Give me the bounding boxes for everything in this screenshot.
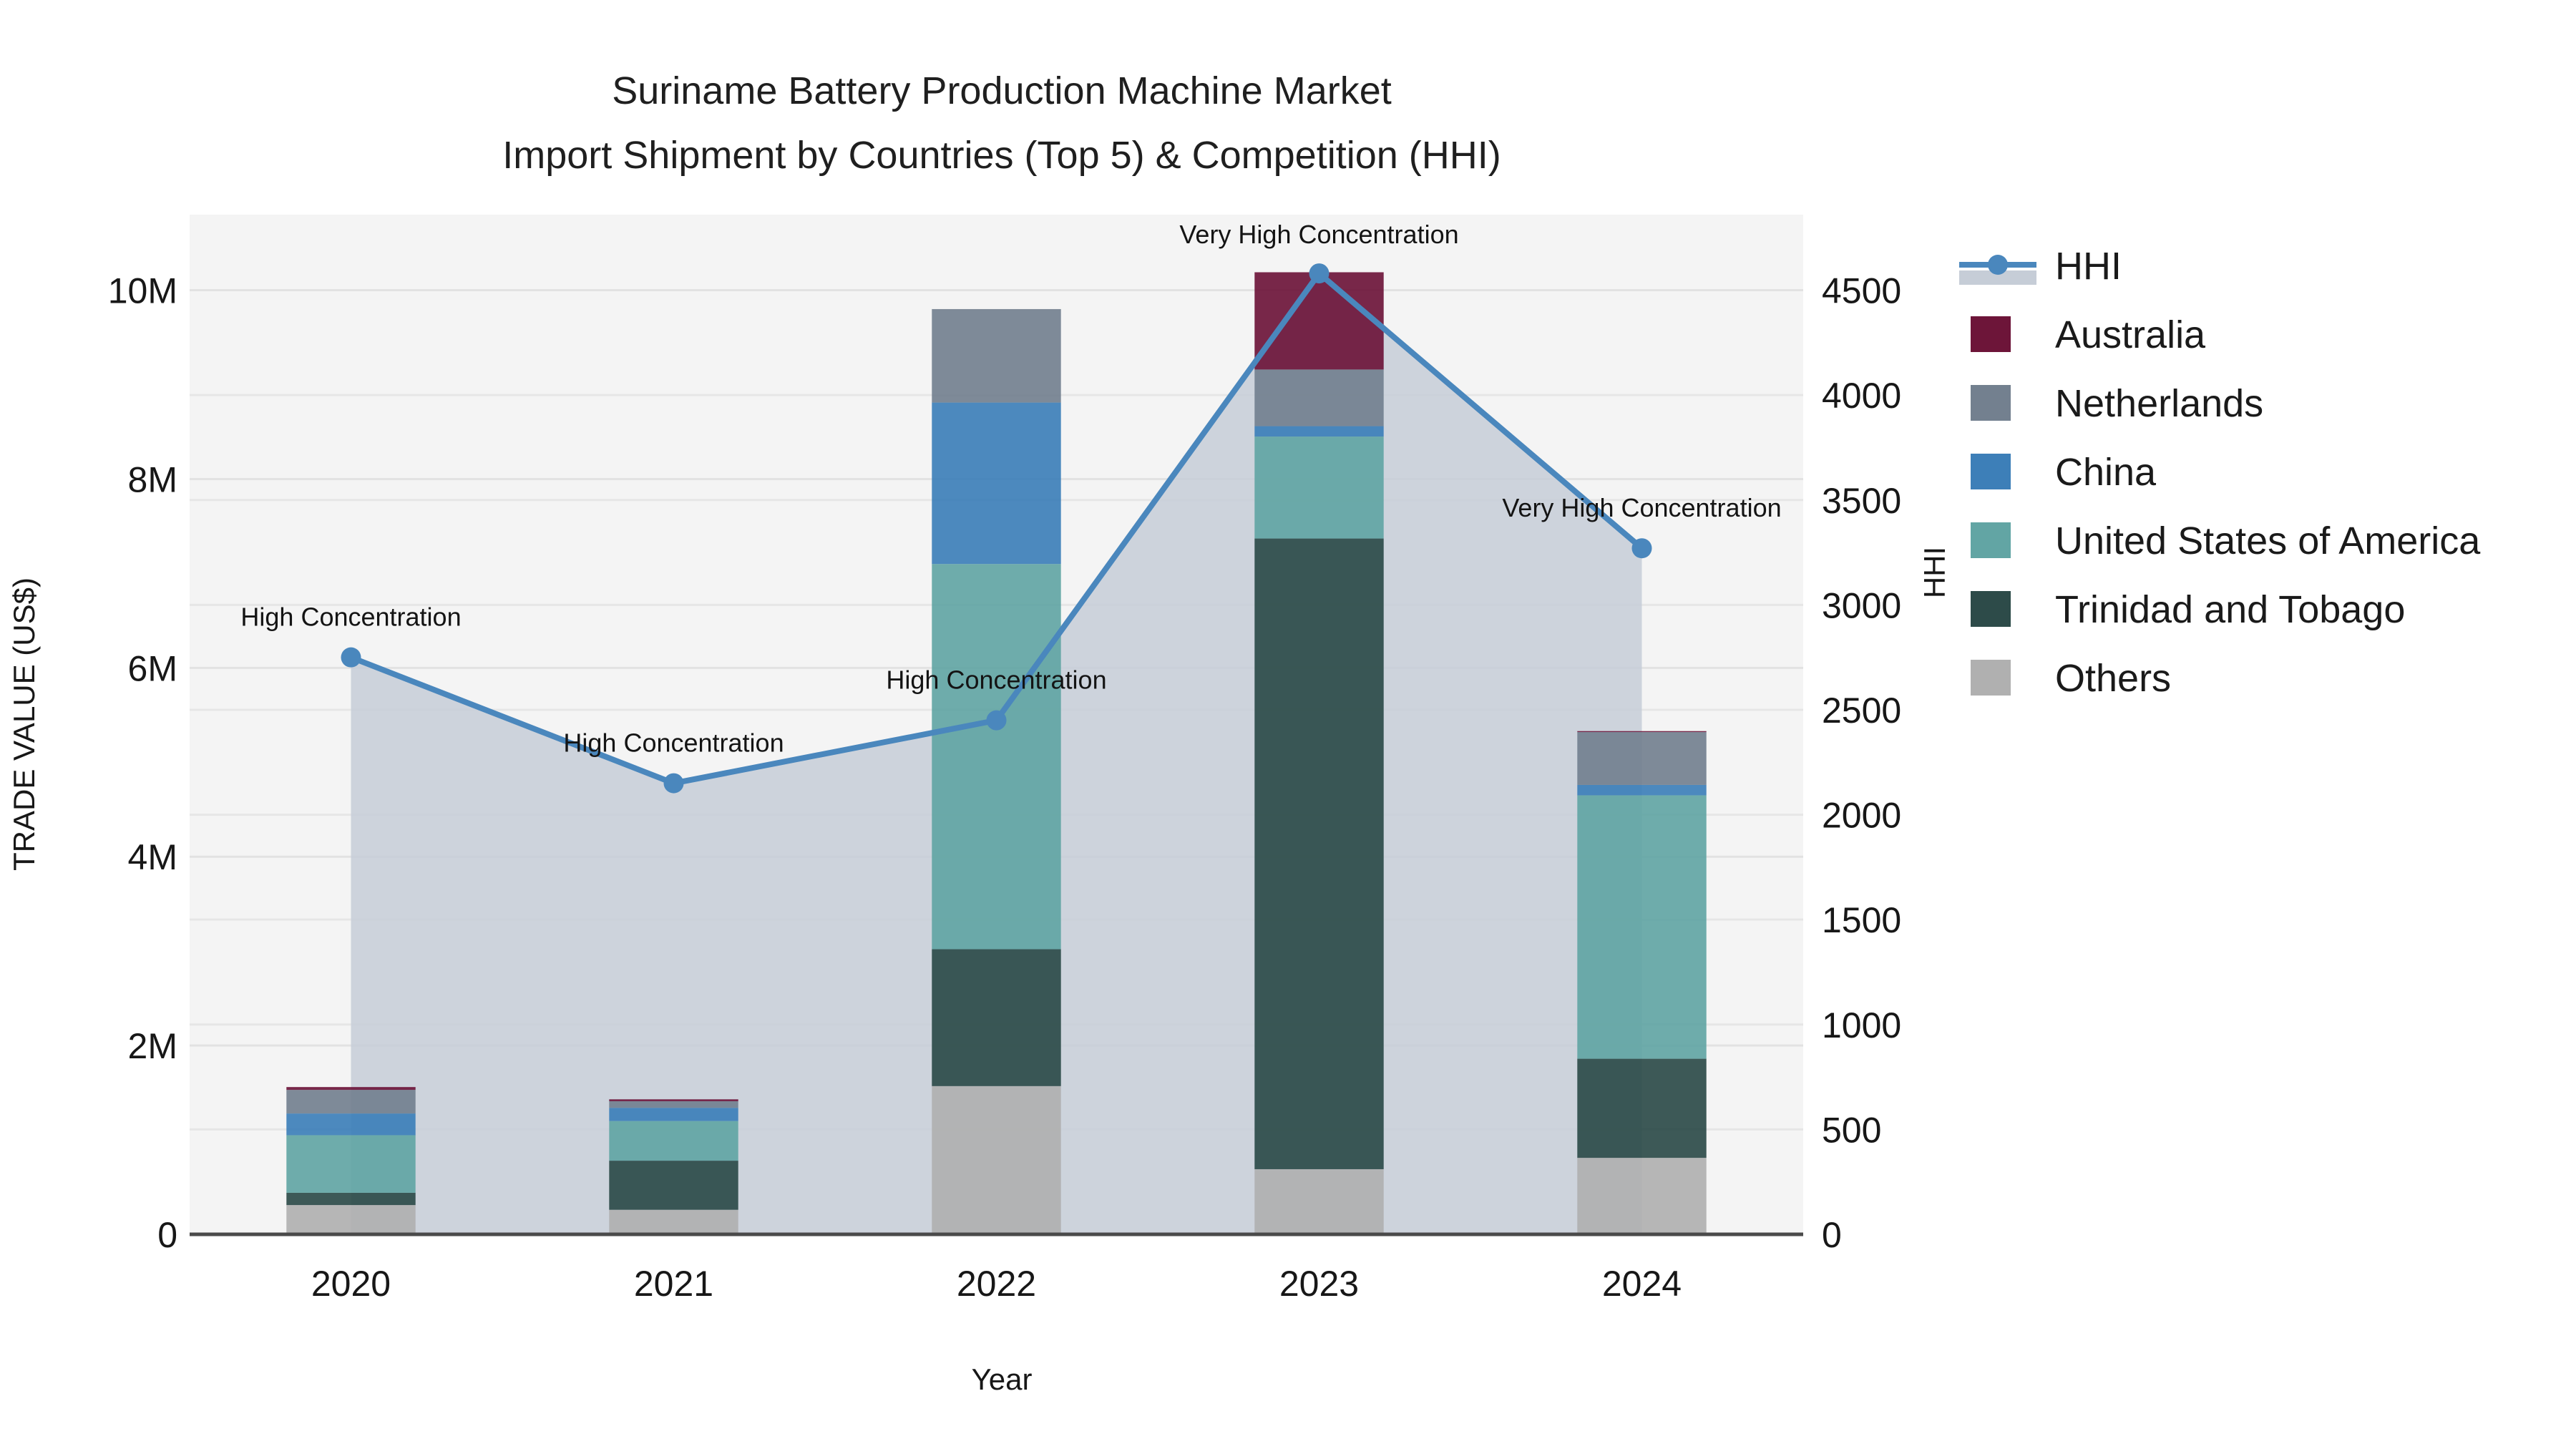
legend-hhi-point-marker	[1988, 255, 2008, 275]
legend-item-china[interactable]: China	[1971, 451, 2157, 494]
y-axis-tick-label: 4M	[128, 837, 177, 877]
bar-segment-china	[932, 403, 1060, 565]
x-axis-tick-label: 2023	[1279, 1264, 1359, 1304]
bar-segment-others	[286, 1205, 415, 1234]
hhi-point-marker	[987, 711, 1007, 731]
bar-segment-others	[1577, 1158, 1706, 1234]
annotation-label: High Concentration	[563, 728, 784, 758]
bar-segment-others	[1254, 1169, 1383, 1234]
bar-segment-netherlands	[932, 309, 1060, 403]
legend-color-swatch	[1971, 316, 2011, 352]
bar-segment-australia	[1254, 272, 1383, 369]
bar-segment-netherlands	[1254, 369, 1383, 426]
y-axis-tick-label: 8M	[128, 459, 177, 499]
bar-segment-united-states-of-america	[609, 1121, 738, 1161]
bar-segment-others	[609, 1210, 738, 1234]
hhi-point-marker	[664, 774, 684, 794]
annotation-label: Very High Concentration	[1502, 493, 1781, 522]
bar-segment-others	[932, 1086, 1060, 1234]
y2-axis-tick-label: 1500	[1822, 900, 1901, 940]
bar-segment-united-states-of-america	[1254, 436, 1383, 539]
bar-segment-trinidad-and-tobago	[1254, 539, 1383, 1169]
bar-segment-netherlands	[609, 1101, 738, 1108]
legend-color-swatch	[1971, 660, 2011, 696]
y2-axis-title: HHI	[1918, 547, 1951, 598]
x-axis-tick-label: 2024	[1602, 1264, 1682, 1304]
y-axis-tick-label: 10M	[108, 271, 177, 311]
legend-item-australia[interactable]: Australia	[1971, 313, 2206, 356]
y2-axis-tick-label: 1000	[1822, 1005, 1901, 1045]
y2-axis-tick-label: 500	[1822, 1110, 1881, 1150]
chart-canvas: Suriname Battery Production Machine Mark…	[0, 0, 2576, 1449]
y2-axis-tick-label: 3500	[1822, 481, 1901, 521]
x-axis-tick-label: 2022	[957, 1264, 1036, 1304]
bar-segment-netherlands	[286, 1090, 415, 1113]
chart-title: Suriname Battery Production Machine Mark…	[612, 69, 1392, 112]
bar-segment-china	[1254, 426, 1383, 437]
legend-color-swatch	[1971, 522, 2011, 558]
legend-item-label: Others	[2055, 657, 2171, 700]
bar-segment-australia	[286, 1087, 415, 1090]
bar-segment-trinidad-and-tobago	[609, 1161, 738, 1210]
bar-segment-trinidad-and-tobago	[1577, 1059, 1706, 1158]
bar-segment-trinidad-and-tobago	[286, 1193, 415, 1205]
bar-segment-australia	[1577, 731, 1706, 732]
legend-item-label: Australia	[2055, 313, 2206, 356]
legend-item-label: Netherlands	[2055, 382, 2263, 425]
legend-item-label: HHI	[2055, 245, 2122, 288]
bar-segment-united-states-of-america	[932, 564, 1060, 949]
legend-item-label: Trinidad and Tobago	[2055, 588, 2405, 631]
y2-axis-tick-label: 2000	[1822, 796, 1901, 836]
bar-segment-australia	[609, 1099, 738, 1101]
y-axis-tick-label: 2M	[128, 1026, 177, 1066]
bar-segment-united-states-of-america	[286, 1135, 415, 1192]
chart-container: Suriname Battery Production Machine Mark…	[0, 0, 2576, 1449]
x-axis-tick-label: 2021	[634, 1264, 713, 1304]
legend-color-swatch	[1971, 385, 2011, 421]
chart-subtitle: Import Shipment by Countries (Top 5) & C…	[502, 134, 1501, 177]
legend-item-others[interactable]: Others	[1971, 657, 2171, 700]
legend-color-swatch	[1971, 454, 2011, 489]
annotation-label: High Concentration	[886, 665, 1106, 695]
bar-segment-united-states-of-america	[1577, 795, 1706, 1058]
bar-segment-netherlands	[1577, 732, 1706, 785]
y2-axis-tick-label: 3000	[1822, 585, 1901, 625]
hhi-point-marker	[341, 648, 361, 668]
x-axis-tick-label: 2020	[311, 1264, 391, 1304]
y2-axis-tick-label: 4000	[1822, 376, 1901, 416]
legend-color-swatch	[1971, 591, 2011, 627]
y2-axis-tick-label: 0	[1822, 1215, 1842, 1255]
bar-segment-china	[1577, 785, 1706, 796]
bar-segment-trinidad-and-tobago	[932, 950, 1060, 1086]
y-axis-tick-label: 6M	[128, 648, 177, 688]
y2-axis-tick-label: 4500	[1822, 271, 1901, 311]
hhi-point-marker	[1632, 538, 1652, 558]
y-axis-tick-label: 0	[157, 1215, 177, 1255]
bar-segment-china	[286, 1113, 415, 1135]
legend-item-label: United States of America	[2055, 519, 2481, 562]
hhi-point-marker	[1309, 263, 1330, 283]
y-axis-title: TRADE VALUE (US$)	[7, 577, 41, 871]
legend-item-label: China	[2055, 451, 2157, 494]
x-axis-title: Year	[972, 1362, 1033, 1396]
annotation-label: High Concentration	[240, 602, 461, 632]
annotation-label: Very High Concentration	[1179, 220, 1458, 249]
bar-segment-china	[609, 1108, 738, 1121]
y2-axis-tick-label: 2500	[1822, 691, 1901, 731]
